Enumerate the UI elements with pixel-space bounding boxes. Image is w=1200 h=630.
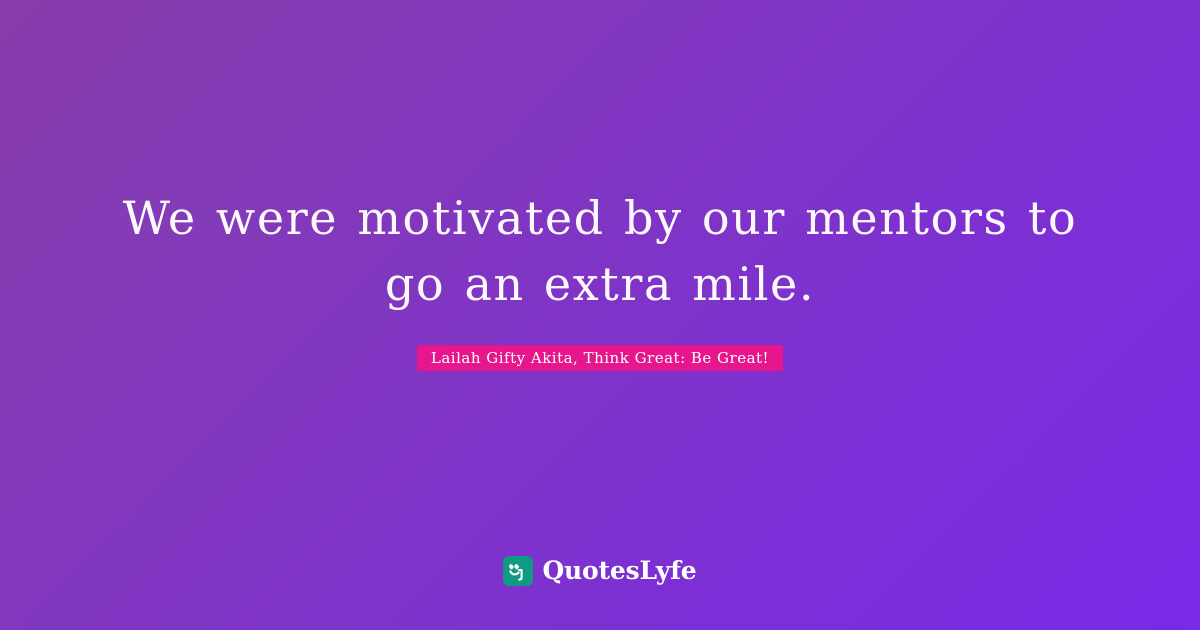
- attribution-wrap: Lailah Gifty Akita, Think Great: Be Grea…: [0, 345, 1200, 371]
- quote-card: We were motivated by our mentors to go a…: [0, 0, 1200, 630]
- quoteslyfe-wordmark: QuotesLyfe: [542, 556, 696, 586]
- quote-block: We were motivated by our mentors to go a…: [100, 185, 1100, 317]
- attribution-badge: Lailah Gifty Akita, Think Great: Be Grea…: [417, 345, 783, 371]
- quoteslyfe-logo[interactable]: QuotesLyfe: [0, 556, 1200, 586]
- quoteslyfe-quote-mark-icon: [503, 556, 533, 586]
- quote-text: We were motivated by our mentors to go a…: [120, 185, 1080, 317]
